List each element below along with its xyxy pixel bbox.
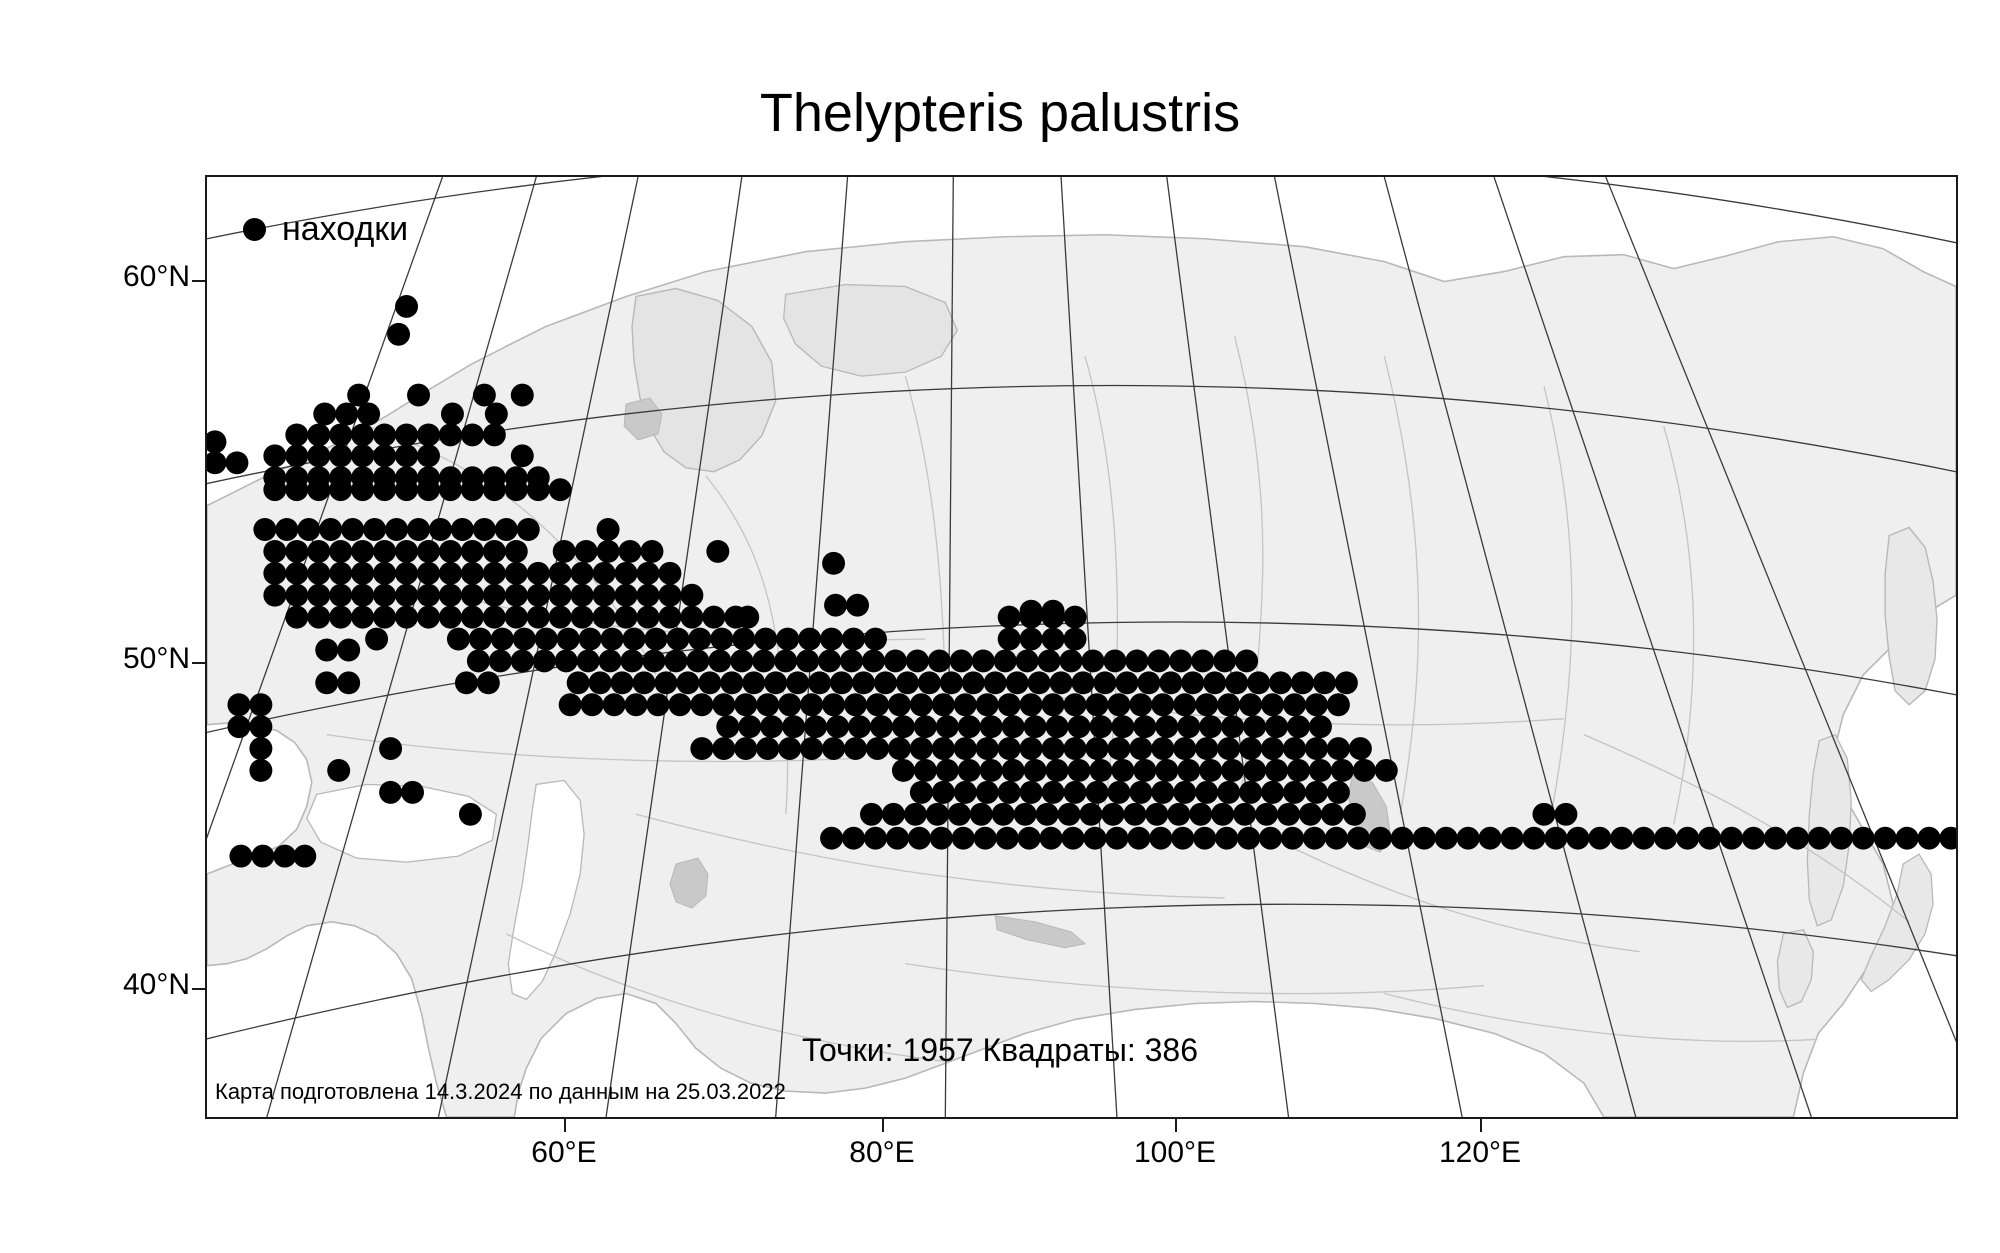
occurrence-dot[interactable]	[1085, 781, 1108, 804]
occurrence-dot[interactable]	[646, 693, 669, 716]
occurrence-dot[interactable]	[644, 628, 667, 651]
occurrence-dot[interactable]	[1291, 671, 1314, 694]
occurrence-dot[interactable]	[798, 628, 821, 651]
occurrence-dot[interactable]	[461, 606, 484, 629]
occurrence-dot[interactable]	[796, 649, 819, 672]
occurrence-dot[interactable]	[559, 693, 582, 716]
occurrence-dot[interactable]	[351, 444, 374, 467]
occurrence-dot[interactable]	[1068, 759, 1091, 782]
occurrence-dot[interactable]	[249, 759, 272, 782]
occurrence-dot[interactable]	[1020, 628, 1043, 651]
occurrence-dot[interactable]	[688, 628, 711, 651]
occurrence-dot[interactable]	[511, 444, 534, 467]
occurrence-dot[interactable]	[1313, 671, 1336, 694]
occurrence-dot[interactable]	[1554, 803, 1577, 826]
occurrence-dot[interactable]	[447, 628, 470, 651]
occurrence-dot[interactable]	[365, 628, 388, 651]
occurrence-dot[interactable]	[1353, 759, 1376, 782]
occurrence-dot[interactable]	[896, 671, 919, 694]
occurrence-dot[interactable]	[932, 737, 955, 760]
occurrence-dot[interactable]	[505, 562, 528, 585]
occurrence-dot[interactable]	[485, 403, 508, 426]
occurrence-dot[interactable]	[910, 781, 933, 804]
occurrence-dot[interactable]	[820, 628, 843, 651]
occurrence-dot[interactable]	[527, 606, 550, 629]
occurrence-dot[interactable]	[870, 715, 893, 738]
occurrence-dot[interactable]	[1221, 759, 1244, 782]
occurrence-dot[interactable]	[327, 759, 350, 782]
occurrence-dot[interactable]	[1479, 827, 1502, 850]
occurrence-dot[interactable]	[451, 518, 474, 541]
occurrence-dot[interactable]	[1375, 759, 1398, 782]
occurrence-dot[interactable]	[1243, 715, 1266, 738]
occurrence-dot[interactable]	[473, 384, 496, 407]
occurrence-dot[interactable]	[1014, 803, 1037, 826]
occurrence-dot[interactable]	[1830, 827, 1853, 850]
occurrence-dot[interactable]	[329, 584, 352, 607]
occurrence-dot[interactable]	[593, 562, 616, 585]
occurrence-dot[interactable]	[461, 540, 484, 563]
occurrence-dot[interactable]	[1874, 827, 1897, 850]
occurrence-dot[interactable]	[615, 562, 638, 585]
occurrence-dot[interactable]	[329, 478, 352, 501]
occurrence-dot[interactable]	[754, 628, 777, 651]
occurrence-dot[interactable]	[1036, 803, 1059, 826]
occurrence-dot[interactable]	[429, 518, 452, 541]
occurrence-dot[interactable]	[603, 693, 626, 716]
occurrence-dot[interactable]	[760, 715, 783, 738]
occurrence-dot[interactable]	[690, 737, 713, 760]
occurrence-dot[interactable]	[716, 715, 739, 738]
occurrence-dot[interactable]	[505, 606, 528, 629]
occurrence-dot[interactable]	[962, 671, 985, 694]
occurrence-dot[interactable]	[417, 562, 440, 585]
occurrence-dot[interactable]	[335, 403, 358, 426]
occurrence-dot[interactable]	[1335, 671, 1358, 694]
occurrence-dot[interactable]	[820, 827, 843, 850]
occurrence-dot[interactable]	[351, 478, 374, 501]
occurrence-dot[interactable]	[782, 715, 805, 738]
occurrence-dot[interactable]	[1060, 649, 1083, 672]
occurrence-dot[interactable]	[249, 715, 272, 738]
occurrence-dot[interactable]	[864, 827, 887, 850]
occurrence-dot[interactable]	[1676, 827, 1699, 850]
occurrence-dot[interactable]	[621, 649, 644, 672]
occurrence-dot[interactable]	[1217, 693, 1240, 716]
occurrence-dot[interactable]	[1764, 827, 1787, 850]
occurrence-dot[interactable]	[756, 737, 779, 760]
occurrence-dot[interactable]	[1046, 759, 1069, 782]
occurrence-dot[interactable]	[637, 584, 660, 607]
occurrence-dot[interactable]	[658, 562, 681, 585]
occurrence-dot[interactable]	[888, 693, 911, 716]
occurrence-dot[interactable]	[738, 715, 761, 738]
occurrence-dot[interactable]	[1259, 827, 1282, 850]
occurrence-dot[interactable]	[998, 693, 1021, 716]
occurrence-dot[interactable]	[439, 584, 462, 607]
occurrence-dot[interactable]	[549, 584, 572, 607]
occurrence-dot[interactable]	[461, 478, 484, 501]
occurrence-dot[interactable]	[461, 423, 484, 446]
occurrence-dot[interactable]	[601, 628, 624, 651]
occurrence-dot[interactable]	[505, 584, 528, 607]
occurrence-dot[interactable]	[373, 540, 396, 563]
occurrence-dot[interactable]	[910, 693, 933, 716]
occurrence-dot[interactable]	[846, 594, 869, 617]
occurrence-dot[interactable]	[1082, 649, 1105, 672]
occurrence-dot[interactable]	[994, 649, 1017, 672]
occurrence-dot[interactable]	[680, 606, 703, 629]
occurrence-dot[interactable]	[315, 671, 338, 694]
occurrence-dot[interactable]	[844, 693, 867, 716]
occurrence-dot[interactable]	[575, 540, 598, 563]
occurrence-dot[interactable]	[1217, 781, 1240, 804]
occurrence-dot[interactable]	[658, 606, 681, 629]
occurrence-dot[interactable]	[976, 781, 999, 804]
occurrence-dot[interactable]	[1058, 803, 1081, 826]
occurrence-dot[interactable]	[908, 827, 931, 850]
occurrence-dot[interactable]	[1265, 759, 1288, 782]
occurrence-dot[interactable]	[1147, 649, 1170, 672]
occurrence-dot[interactable]	[379, 737, 402, 760]
occurrence-dot[interactable]	[998, 606, 1021, 629]
occurrence-dot[interactable]	[1501, 827, 1524, 850]
occurrence-dot[interactable]	[441, 403, 464, 426]
occurrence-dot[interactable]	[928, 649, 951, 672]
occurrence-dot[interactable]	[698, 671, 721, 694]
occurrence-dot[interactable]	[1020, 737, 1043, 760]
occurrence-dot[interactable]	[952, 827, 975, 850]
occurrence-dot[interactable]	[884, 649, 907, 672]
occurrence-dot[interactable]	[1189, 803, 1212, 826]
occurrence-dot[interactable]	[1181, 671, 1204, 694]
occurrence-dot[interactable]	[984, 671, 1007, 694]
occurrence-dot[interactable]	[571, 584, 594, 607]
occurrence-dot[interactable]	[1093, 671, 1116, 694]
occurrence-dot[interactable]	[756, 693, 779, 716]
occurrence-dot[interactable]	[954, 737, 977, 760]
occurrence-dot[interactable]	[1277, 803, 1300, 826]
occurrence-dot[interactable]	[866, 693, 889, 716]
occurrence-dot[interactable]	[351, 423, 374, 446]
occurrence-dot[interactable]	[1261, 737, 1284, 760]
occurrence-dot[interactable]	[483, 606, 506, 629]
occurrence-dot[interactable]	[319, 518, 342, 541]
occurrence-dot[interactable]	[549, 478, 572, 501]
occurrence-dot[interactable]	[818, 649, 841, 672]
occurrence-dot[interactable]	[936, 715, 959, 738]
occurrence-dot[interactable]	[1632, 827, 1655, 850]
occurrence-dot[interactable]	[1343, 803, 1366, 826]
occurrence-dot[interactable]	[976, 737, 999, 760]
occurrence-dot[interactable]	[623, 628, 646, 651]
occurrence-dot[interactable]	[599, 649, 622, 672]
occurrence-dot[interactable]	[1544, 827, 1567, 850]
occurrence-dot[interactable]	[918, 671, 941, 694]
occurrence-dot[interactable]	[1610, 827, 1633, 850]
occurrence-dot[interactable]	[892, 759, 915, 782]
occurrence-dot[interactable]	[996, 827, 1019, 850]
occurrence-dot[interactable]	[1255, 803, 1278, 826]
occurrence-dot[interactable]	[1127, 827, 1150, 850]
occurrence-dot[interactable]	[1283, 737, 1306, 760]
occurrence-dot[interactable]	[822, 737, 845, 760]
occurrence-dot[interactable]	[473, 518, 496, 541]
occurrence-dot[interactable]	[1133, 715, 1156, 738]
occurrence-dot[interactable]	[1654, 827, 1677, 850]
occurrence-dot[interactable]	[980, 759, 1003, 782]
occurrence-dot[interactable]	[830, 671, 853, 694]
occurrence-dot[interactable]	[992, 803, 1015, 826]
occurrence-dot[interactable]	[275, 518, 298, 541]
occurrence-dot[interactable]	[373, 584, 396, 607]
occurrence-dot[interactable]	[263, 444, 286, 467]
occurrence-dot[interactable]	[840, 649, 863, 672]
occurrence-dot[interactable]	[910, 737, 933, 760]
occurrence-dot[interactable]	[1111, 715, 1134, 738]
occurrence-dot[interactable]	[1203, 671, 1226, 694]
occurrence-dot[interactable]	[842, 628, 865, 651]
occurrence-dot[interactable]	[1195, 737, 1218, 760]
occurrence-dot[interactable]	[1435, 827, 1458, 850]
occurrence-dot[interactable]	[998, 628, 1021, 651]
occurrence-dot[interactable]	[1006, 671, 1029, 694]
occurrence-dot[interactable]	[886, 827, 909, 850]
occurrence-dot[interactable]	[1040, 827, 1063, 850]
occurrence-dot[interactable]	[1002, 715, 1025, 738]
occurrence-dot[interactable]	[553, 540, 576, 563]
occurrence-dot[interactable]	[822, 552, 845, 575]
occurrence-dot[interactable]	[1103, 649, 1126, 672]
occurrence-dot[interactable]	[307, 606, 330, 629]
occurrence-dot[interactable]	[611, 671, 634, 694]
occurrence-dot[interactable]	[1020, 693, 1043, 716]
occurrence-dot[interactable]	[976, 693, 999, 716]
occurrence-dot[interactable]	[549, 562, 572, 585]
occurrence-dot[interactable]	[373, 478, 396, 501]
occurrence-dot[interactable]	[1347, 827, 1370, 850]
occurrence-dot[interactable]	[577, 649, 600, 672]
occurrence-dot[interactable]	[1261, 693, 1284, 716]
occurrence-dot[interactable]	[1940, 827, 1956, 850]
occurrence-dot[interactable]	[948, 803, 971, 826]
occurrence-dot[interactable]	[1269, 671, 1292, 694]
occurrence-dot[interactable]	[1072, 671, 1095, 694]
occurrence-dot[interactable]	[730, 649, 753, 672]
occurrence-dot[interactable]	[1155, 759, 1178, 782]
occurrence-dot[interactable]	[483, 478, 506, 501]
occurrence-dot[interactable]	[207, 430, 226, 453]
occurrence-dot[interactable]	[666, 628, 689, 651]
occurrence-dot[interactable]	[439, 606, 462, 629]
occurrence-dot[interactable]	[998, 781, 1021, 804]
occurrence-dot[interactable]	[804, 715, 827, 738]
occurrence-dot[interactable]	[1369, 827, 1392, 850]
occurrence-dot[interactable]	[1042, 781, 1065, 804]
occurrence-dot[interactable]	[932, 781, 955, 804]
occurrence-dot[interactable]	[307, 562, 330, 585]
occurrence-dot[interactable]	[263, 562, 286, 585]
occurrence-dot[interactable]	[285, 444, 308, 467]
occurrence-dot[interactable]	[273, 845, 296, 868]
occurrence-dot[interactable]	[1151, 693, 1174, 716]
occurrence-dot[interactable]	[477, 671, 500, 694]
occurrence-dot[interactable]	[455, 671, 478, 694]
occurrence-dot[interactable]	[926, 803, 949, 826]
occurrence-dot[interactable]	[826, 715, 849, 738]
occurrence-dot[interactable]	[1020, 606, 1043, 629]
occurrence-dot[interactable]	[251, 845, 274, 868]
occurrence-dot[interactable]	[461, 584, 484, 607]
occurrence-dot[interactable]	[619, 540, 642, 563]
occurrence-dot[interactable]	[461, 562, 484, 585]
occurrence-dot[interactable]	[972, 649, 995, 672]
occurrence-dot[interactable]	[1283, 781, 1306, 804]
occurrence-dot[interactable]	[285, 478, 308, 501]
occurrence-dot[interactable]	[774, 649, 797, 672]
occurrence-dot[interactable]	[742, 671, 765, 694]
occurrence-dot[interactable]	[1327, 693, 1350, 716]
occurrence-dot[interactable]	[483, 584, 506, 607]
occurrence-dot[interactable]	[1020, 781, 1043, 804]
occurrence-dot[interactable]	[712, 693, 735, 716]
occurrence-dot[interactable]	[579, 628, 602, 651]
occurrence-dot[interactable]	[1145, 803, 1168, 826]
occurrence-dot[interactable]	[970, 803, 993, 826]
occurrence-dot[interactable]	[862, 649, 885, 672]
occurrence-dot[interactable]	[417, 606, 440, 629]
occurrence-dot[interactable]	[800, 737, 823, 760]
occurrence-dot[interactable]	[904, 803, 927, 826]
occurrence-dot[interactable]	[954, 693, 977, 716]
occurrence-dot[interactable]	[954, 781, 977, 804]
occurrence-dot[interactable]	[1303, 827, 1326, 850]
occurrence-dot[interactable]	[914, 715, 937, 738]
occurrence-dot[interactable]	[1265, 715, 1288, 738]
occurrence-dot[interactable]	[764, 671, 787, 694]
occurrence-dot[interactable]	[1107, 737, 1130, 760]
occurrence-dot[interactable]	[864, 628, 887, 651]
occurrence-dot[interactable]	[1042, 628, 1065, 651]
occurrence-dot[interactable]	[1193, 827, 1216, 850]
occurrence-dot[interactable]	[329, 423, 352, 446]
occurrence-dot[interactable]	[363, 518, 386, 541]
occurrence-dot[interactable]	[1155, 715, 1178, 738]
occurrence-dot[interactable]	[1042, 737, 1065, 760]
occurrence-dot[interactable]	[1064, 737, 1087, 760]
occurrence-dot[interactable]	[680, 584, 703, 607]
occurrence-dot[interactable]	[974, 827, 997, 850]
occurrence-dot[interactable]	[1159, 671, 1182, 694]
occurrence-dot[interactable]	[710, 628, 733, 651]
occurrence-dot[interactable]	[417, 423, 440, 446]
occurrence-dot[interactable]	[778, 693, 801, 716]
occurrence-dot[interactable]	[1239, 737, 1262, 760]
occurrence-dot[interactable]	[387, 323, 410, 346]
occurrence-dot[interactable]	[1137, 671, 1160, 694]
occurrence-dot[interactable]	[1167, 803, 1190, 826]
occurrence-dot[interactable]	[824, 594, 847, 617]
occurrence-dot[interactable]	[307, 584, 330, 607]
occurrence-dot[interactable]	[307, 444, 330, 467]
occurrence-dot[interactable]	[734, 693, 757, 716]
occurrence-dot[interactable]	[249, 693, 272, 716]
occurrence-dot[interactable]	[1349, 737, 1372, 760]
occurrence-dot[interactable]	[1309, 759, 1332, 782]
occurrence-dot[interactable]	[263, 584, 286, 607]
occurrence-dot[interactable]	[637, 562, 660, 585]
occurrence-dot[interactable]	[467, 649, 490, 672]
occurrence-dot[interactable]	[808, 671, 831, 694]
occurrence-dot[interactable]	[958, 715, 981, 738]
occurrence-dot[interactable]	[439, 540, 462, 563]
occurrence-dot[interactable]	[1215, 827, 1238, 850]
occurrence-dot[interactable]	[752, 649, 775, 672]
occurrence-dot[interactable]	[1305, 693, 1328, 716]
occurrence-dot[interactable]	[395, 295, 418, 318]
occurrence-dot[interactable]	[1169, 649, 1192, 672]
occurrence-dot[interactable]	[874, 671, 897, 694]
occurrence-dot[interactable]	[724, 606, 747, 629]
occurrence-dot[interactable]	[373, 444, 396, 467]
occurrence-dot[interactable]	[1698, 827, 1721, 850]
occurrence-dot[interactable]	[315, 639, 338, 662]
occurrence-dot[interactable]	[401, 781, 424, 804]
occurrence-dot[interactable]	[637, 606, 660, 629]
occurrence-dot[interactable]	[329, 444, 352, 467]
occurrence-dot[interactable]	[1042, 693, 1065, 716]
occurrence-dot[interactable]	[313, 403, 336, 426]
occurrence-dot[interactable]	[329, 562, 352, 585]
occurrence-dot[interactable]	[395, 478, 418, 501]
occurrence-dot[interactable]	[439, 562, 462, 585]
occurrence-dot[interactable]	[860, 803, 883, 826]
occurrence-dot[interactable]	[1080, 803, 1103, 826]
occurrence-dot[interactable]	[1239, 781, 1262, 804]
occurrence-dot[interactable]	[1413, 827, 1436, 850]
occurrence-dot[interactable]	[734, 737, 757, 760]
occurrence-dot[interactable]	[571, 562, 594, 585]
occurrence-dot[interactable]	[1173, 693, 1196, 716]
occurrence-dot[interactable]	[866, 737, 889, 760]
occurrence-dot[interactable]	[1149, 827, 1172, 850]
occurrence-dot[interactable]	[1309, 715, 1332, 738]
occurrence-dot[interactable]	[980, 715, 1003, 738]
occurrence-dot[interactable]	[1287, 715, 1310, 738]
occurrence-dot[interactable]	[517, 518, 540, 541]
occurrence-dot[interactable]	[571, 606, 594, 629]
occurrence-dot[interactable]	[822, 693, 845, 716]
occurrence-dot[interactable]	[1173, 737, 1196, 760]
occurrence-dot[interactable]	[337, 639, 360, 662]
occurrence-dot[interactable]	[253, 518, 276, 541]
occurrence-dot[interactable]	[1068, 715, 1091, 738]
occurrence-dot[interactable]	[513, 628, 536, 651]
occurrence-dot[interactable]	[936, 759, 959, 782]
occurrence-dot[interactable]	[373, 606, 396, 629]
occurrence-dot[interactable]	[844, 737, 867, 760]
occurrence-dot[interactable]	[293, 845, 316, 868]
occurrence-dot[interactable]	[229, 845, 252, 868]
occurrence-dot[interactable]	[1199, 759, 1222, 782]
occurrence-dot[interactable]	[1151, 781, 1174, 804]
occurrence-dot[interactable]	[1115, 671, 1138, 694]
occurrence-dot[interactable]	[483, 562, 506, 585]
occurrence-dot[interactable]	[549, 606, 572, 629]
occurrence-dot[interactable]	[439, 478, 462, 501]
occurrence-dot[interactable]	[888, 737, 911, 760]
occurrence-dot[interactable]	[914, 759, 937, 782]
